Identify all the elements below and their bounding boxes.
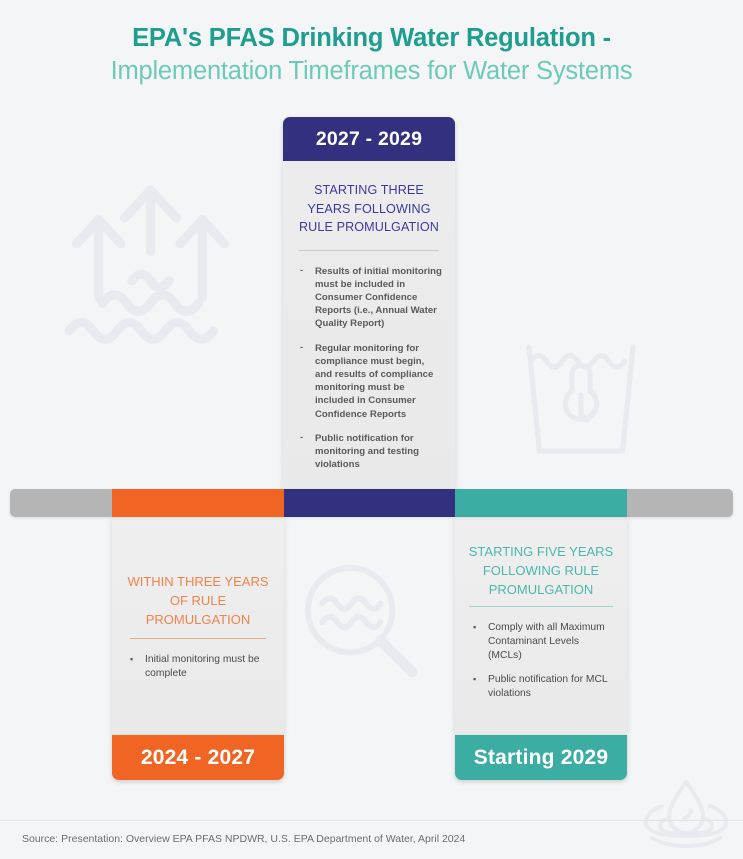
timeline-segment-track-right [627,489,733,517]
timeline-segment-track-left [10,489,112,517]
list-item: Public notification for MCL violations [469,673,615,701]
phase-1-heading: WITHIN THREE YEARS OF RULE PROMULGATION [112,572,284,629]
infographic-canvas: EPA's PFAS Drinking Water Regulation - I… [0,0,743,859]
title-line-2: Implementation Timeframes for Water Syst… [0,54,743,88]
phase-1-body: WITHIN THREE YEARS OF RULE PROMULGATION … [112,517,284,735]
phase-3-year-label: Starting 2029 [455,735,627,780]
timeline-segment-phase-2[interactable] [284,489,455,517]
timeline-segment-phase-3[interactable] [455,489,627,517]
title-line-1: EPA's PFAS Drinking Water Regulation - [0,22,743,54]
page-title: EPA's PFAS Drinking Water Regulation - I… [0,22,743,88]
rising-arrows-water-icon [58,168,243,353]
list-item: Regular monitoring for compliance must b… [297,342,443,421]
timeline-bar [10,489,733,517]
phase-2-bullet-list: Results of initial monitoring must be in… [283,251,455,472]
phase-2-year-label: 2027 - 2029 [283,117,455,161]
phase-1-bullet-list: Initial monitoring must be complete [112,639,284,681]
water-glass-thermometer-icon [516,334,646,464]
list-item: Results of initial monitoring must be in… [297,265,443,331]
magnifier-water-icon [296,556,428,688]
list-item: Initial monitoring must be complete [126,653,272,681]
phase-card-starting-2029[interactable]: STARTING FIVE YEARS FOLLOWING RULE PROMU… [455,489,627,780]
phase-3-heading: STARTING FIVE YEARS FOLLOWING RULE PROMU… [455,542,627,599]
source-text: Source: Presentation: Overview EPA PFAS … [22,833,465,845]
phase-2-heading: STARTING THREE YEARS FOLLOWING RULE PROM… [283,161,455,237]
timeline-segment-phase-1[interactable] [112,489,284,517]
list-item: Public notification for monitoring and t… [297,432,443,472]
list-item: Comply with all Maximum Contaminant Leve… [469,621,615,663]
phase-2-body: STARTING THREE YEARS FOLLOWING RULE PROM… [283,161,455,489]
phase-card-2027-2029[interactable]: 2027 - 2029 STARTING THREE YEARS FOLLOWI… [283,117,455,489]
source-footer: Source: Presentation: Overview EPA PFAS … [0,820,743,859]
phase-card-2024-2027[interactable]: WITHIN THREE YEARS OF RULE PROMULGATION … [112,489,284,780]
phase-3-bullet-list: Comply with all Maximum Contaminant Leve… [455,607,627,711]
phase-3-body: STARTING FIVE YEARS FOLLOWING RULE PROMU… [455,517,627,735]
phase-1-year-label: 2024 - 2027 [112,735,284,780]
